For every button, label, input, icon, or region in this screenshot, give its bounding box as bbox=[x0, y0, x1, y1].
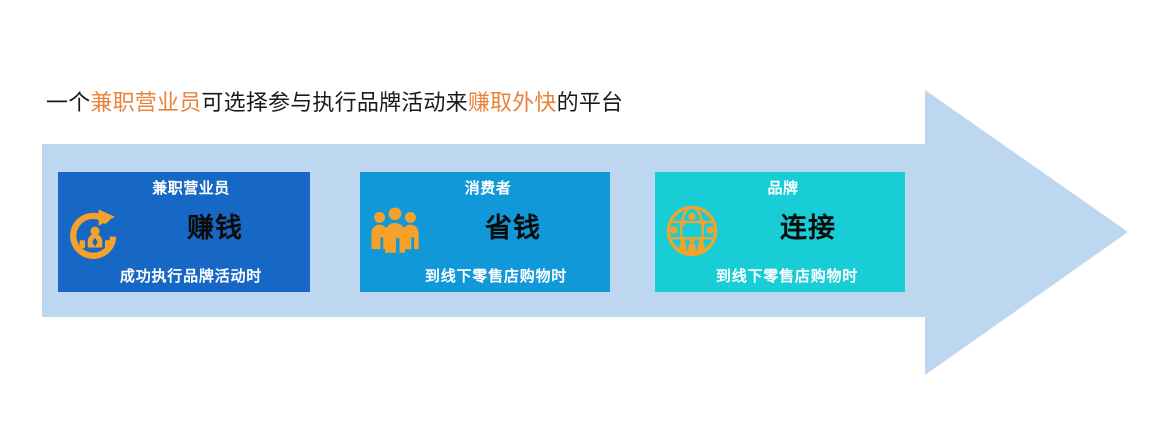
card-header-label: 消费者 bbox=[360, 178, 610, 200]
card-main-label: 连接 bbox=[719, 208, 897, 248]
card-footer-label: 成功执行品牌活动时 bbox=[58, 266, 310, 288]
card-consumer[interactable]: 消费者 省钱 到线下零售店购物时 bbox=[360, 172, 610, 292]
title-segment-1: 一个 bbox=[46, 90, 90, 115]
card-part-time-clerk[interactable]: 兼职营业员 赚钱 成功执行品牌活动时 bbox=[58, 172, 310, 292]
title-highlight-clerk: 兼职营业员 bbox=[90, 90, 201, 115]
three-people-icon bbox=[366, 202, 424, 260]
card-main-label: 赚钱 bbox=[128, 208, 302, 248]
card-main-label: 省钱 bbox=[424, 208, 602, 248]
card-header-label: 品牌 bbox=[655, 178, 905, 200]
globe-network-people-icon bbox=[663, 202, 721, 260]
card-footer-label: 到线下零售店购物时 bbox=[360, 266, 610, 288]
title-segment-3: 的平台 bbox=[557, 90, 624, 115]
card-header-label: 兼职营业员 bbox=[58, 178, 310, 200]
title-segment-2: 可选择参与执行品牌活动来 bbox=[201, 90, 467, 115]
slide-canvas: 一个兼职营业员可选择参与执行品牌活动来赚取外快的平台 兼职营业员 赚钱 成功执行… bbox=[0, 0, 1150, 430]
refresh-person-icon bbox=[66, 204, 124, 262]
page-title: 一个兼职营业员可选择参与执行品牌活动来赚取外快的平台 bbox=[46, 88, 623, 118]
card-footer-label: 到线下零售店购物时 bbox=[655, 266, 905, 288]
card-brand[interactable]: 品牌 连接 bbox=[655, 172, 905, 292]
title-highlight-earn: 赚取外快 bbox=[468, 90, 557, 115]
